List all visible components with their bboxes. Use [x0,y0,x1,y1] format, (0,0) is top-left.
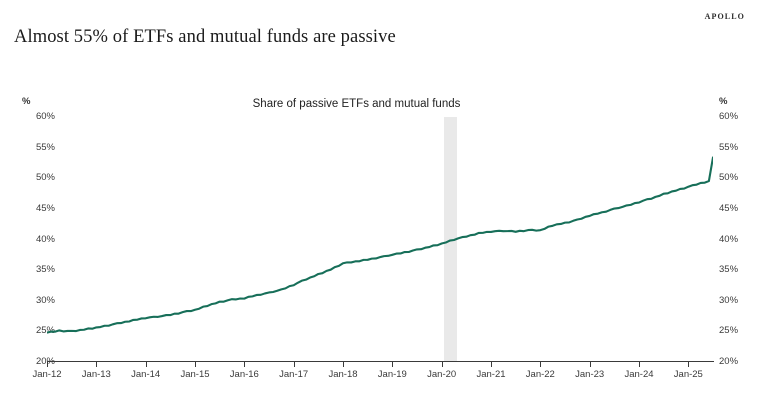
y-tick-label-right: 20% [719,356,759,367]
x-tick-mark [195,362,196,367]
page-root: APOLLO Almost 55% of ETFs and mutual fun… [0,0,761,404]
x-tick-label: Jan-25 [674,369,703,380]
x-tick-mark [590,362,591,367]
x-tick-label: Jan-12 [32,369,61,380]
y-tick-label-right: 30% [719,295,759,306]
y-axis-unit-right: % [719,96,727,107]
y-tick-label-right: 55% [719,142,759,153]
x-tick-label: Jan-22 [526,369,555,380]
y-tick-label-right: 40% [719,234,759,245]
x-tick-mark [343,362,344,367]
x-tick-mark [392,362,393,367]
x-tick-mark [47,362,48,367]
y-axis-unit-left: % [22,96,30,107]
y-tick-label-right: 50% [719,172,759,183]
x-axis-line [47,361,714,362]
x-tick-label: Jan-15 [180,369,209,380]
y-tick-label-right: 25% [719,325,759,336]
x-tick-label: Jan-13 [82,369,111,380]
chart-subtitle: Share of passive ETFs and mutual funds [0,98,761,110]
x-tick-label: Jan-14 [131,369,160,380]
x-tick-mark [244,362,245,367]
x-tick-label: Jan-19 [378,369,407,380]
x-tick-mark [688,362,689,367]
x-tick-label: Jan-16 [230,369,259,380]
line-series-passive-share [47,117,713,362]
y-tick-label-right: 35% [719,264,759,275]
x-tick-label: Jan-20 [427,369,456,380]
x-tick-label: Jan-17 [279,369,308,380]
x-tick-mark [540,362,541,367]
x-tick-label: Jan-24 [624,369,653,380]
x-tick-mark [146,362,147,367]
x-tick-label: Jan-23 [575,369,604,380]
x-tick-mark [639,362,640,367]
x-tick-mark [442,362,443,367]
y-tick-label-right: 60% [719,111,759,122]
x-tick-mark [96,362,97,367]
x-tick-mark [491,362,492,367]
y-tick-label-right: 45% [719,203,759,214]
chart-panel: Share of passive ETFs and mutual funds %… [0,0,761,404]
x-tick-label: Jan-21 [476,369,505,380]
x-tick-label: Jan-18 [328,369,357,380]
x-tick-mark [294,362,295,367]
